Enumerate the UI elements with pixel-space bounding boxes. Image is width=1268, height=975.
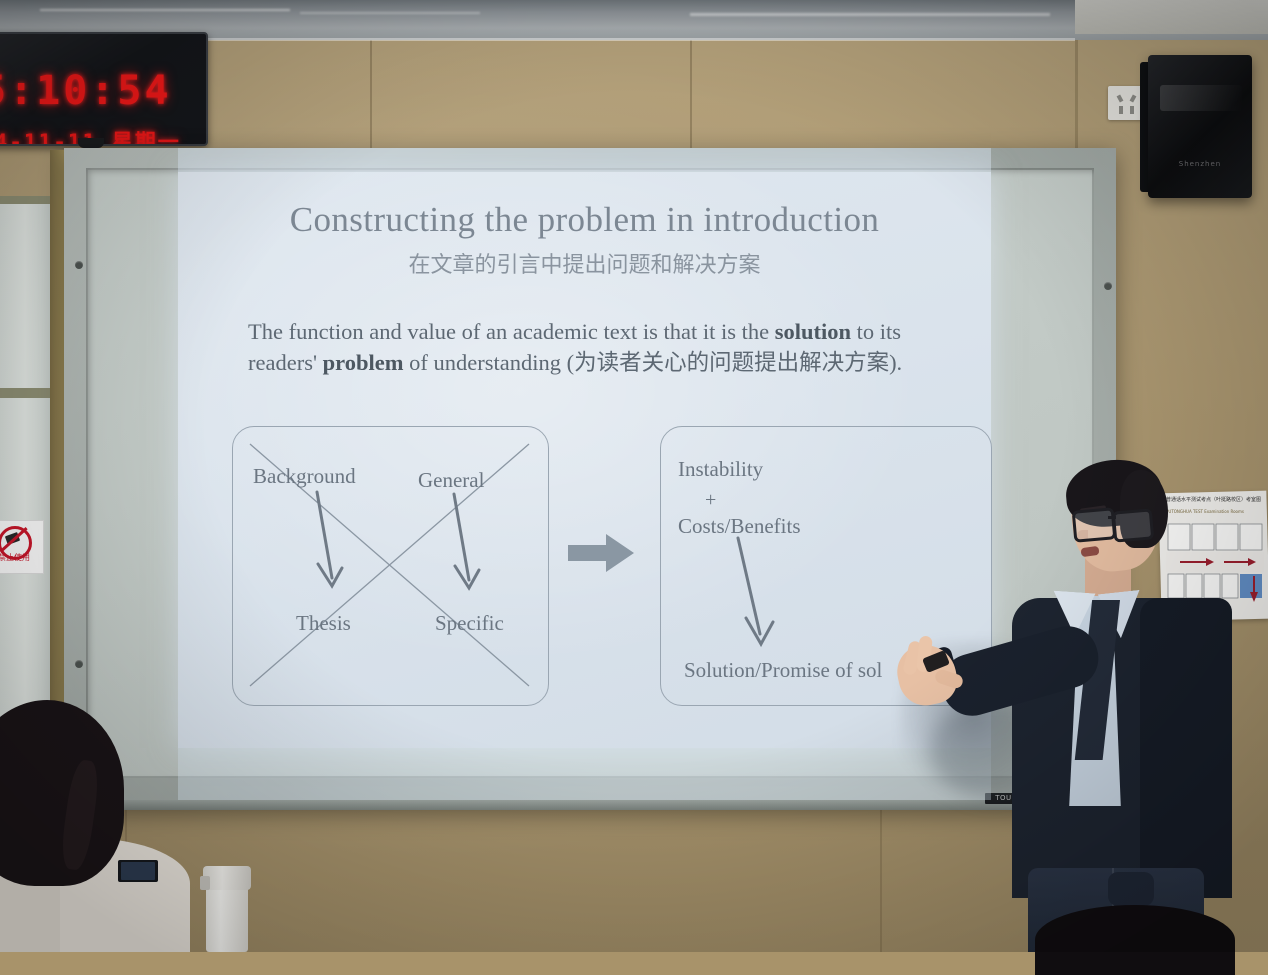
- node-background: Background: [253, 464, 356, 489]
- transition-arrow-icon: [568, 534, 634, 572]
- slide-subtitle: 在文章的引言中提出问题和解决方案: [178, 247, 991, 279]
- prohibition-sign-text: 禁止使用: [0, 554, 41, 562]
- arrow-general-to-specific: [454, 494, 479, 588]
- body-text-segment-3: of understanding (为读者关心的问题提出解决方案).: [403, 350, 902, 375]
- node-plus-sign: +: [705, 489, 716, 512]
- frame-screw: [1104, 282, 1112, 290]
- ceiling-highlight: [40, 9, 290, 11]
- speaker-reflection: [1160, 85, 1242, 111]
- node-solution: Solution/Promise of sol: [684, 658, 882, 683]
- ceiling-highlight: [690, 13, 1050, 16]
- node-instability: Instability: [678, 457, 763, 482]
- eyeglasses-right-lens-icon: [1112, 508, 1155, 542]
- tablet-screen: [121, 862, 155, 880]
- outlet-slot: [1119, 106, 1123, 114]
- presenter-blazer-right: [1140, 598, 1232, 898]
- eyeglasses-bridge-icon: [1108, 516, 1116, 519]
- eyeglasses-left-lens-icon: [1072, 507, 1117, 543]
- frame-screw: [75, 660, 83, 668]
- presenter-hand-in-pocket: [1108, 872, 1154, 906]
- body-bold-problem: problem: [323, 350, 404, 375]
- node-thesis: Thesis: [296, 611, 351, 636]
- arrow-background-to-thesis: [317, 492, 342, 586]
- door-divider: [0, 196, 50, 204]
- led-clock-display: 5:10:54 24-11-11 星期一: [0, 32, 208, 146]
- water-bottle-clip: [200, 876, 210, 890]
- projection-spill-bottom: [178, 748, 991, 800]
- speaker-brand-label: Shenzhen: [1172, 160, 1228, 168]
- slide-title: Constructing the problem in introduction: [178, 200, 991, 240]
- frame-screw: [75, 261, 83, 269]
- wall-speaker: [1148, 55, 1252, 198]
- body-text-segment-1: The function and value of an academic te…: [248, 319, 775, 344]
- door-divider: [0, 388, 50, 398]
- slide-body-paragraph: The function and value of an academic te…: [248, 316, 948, 378]
- arrow-to-solution: [738, 538, 773, 644]
- student-head-foreground: [1035, 905, 1235, 975]
- ceiling-panel-right: [1075, 0, 1268, 34]
- node-costs-benefits: Costs/Benefits: [678, 514, 801, 539]
- node-specific: Specific: [435, 611, 504, 636]
- water-bottle-cap: [203, 866, 251, 890]
- ceiling-highlight: [300, 12, 480, 14]
- poster-title: 普通话水平测试考点（叶挺路校区）考室图: [1166, 497, 1264, 503]
- whiteboard-bottom-edge: [64, 800, 1116, 810]
- student-shoulder: [0, 876, 60, 952]
- outlet-slot: [1130, 106, 1134, 114]
- body-bold-solution: solution: [775, 319, 851, 344]
- poster-subtitle: PUTONGHUA TEST Examination Rooms: [1166, 509, 1264, 514]
- projection-spill-top: [178, 148, 991, 172]
- clock-time-text: 5:10:54: [0, 68, 172, 114]
- node-general: General: [418, 468, 484, 493]
- clock-mount-arm: [78, 138, 104, 148]
